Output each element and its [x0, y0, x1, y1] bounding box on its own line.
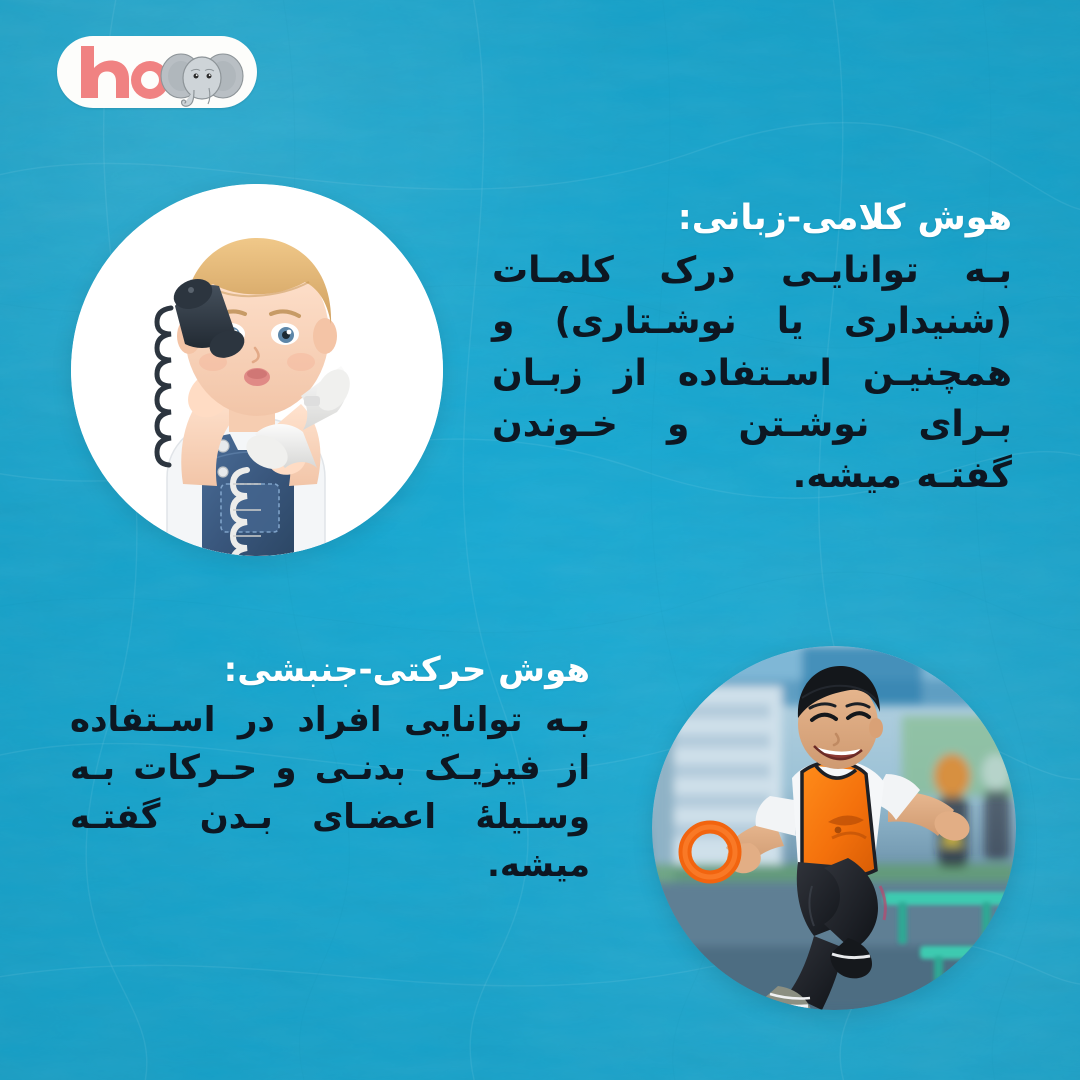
brand-logo[interactable] [57, 36, 257, 108]
toddler-with-telephone-handsets-illustration [71, 184, 443, 556]
section-verbal-linguistic: هوش کلامی-زبانی: بـه توانایـی درک کلمـات… [492, 198, 1012, 501]
boy-jumping-hurdles-illustration [652, 646, 1016, 1010]
infographic-poster: هوش کلامی-زبانی: بـه توانایـی درک کلمـات… [0, 0, 1080, 1080]
elephant-head-icon [182, 57, 221, 106]
body-bodily-kinesthetic: بـه توانایی افراد در اسـتفاده از فیزیـک … [70, 696, 590, 889]
section-bodily-kinesthetic: هوش حرکتی-جنبشی: بـه توانایی افراد در اس… [70, 650, 590, 889]
heading-verbal-linguistic: هوش کلامی-زبانی: [492, 198, 1012, 239]
heading-bodily-kinesthetic: هوش حرکتی-جنبشی: [70, 650, 590, 690]
section-image-bodily-kinesthetic [652, 646, 1016, 1010]
orange-training-bib [802, 762, 876, 878]
body-verbal-linguistic: بـه توانایـی درک کلمـات (شنیداری یا نوشـ… [492, 245, 1012, 501]
logo-artwork [57, 36, 257, 108]
logo-letter-h [81, 46, 129, 98]
section-image-verbal-linguistic [71, 184, 443, 556]
